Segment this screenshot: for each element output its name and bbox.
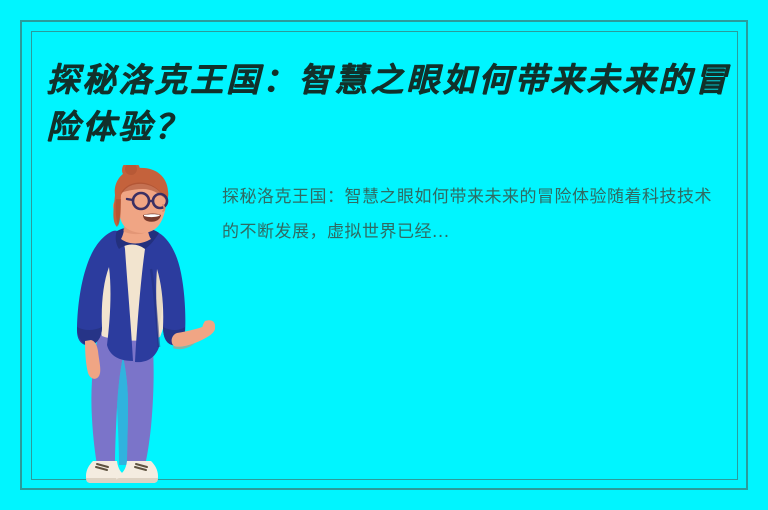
article-card: 探秘洛克王国：智慧之眼如何带来未来的冒险体验？ <box>0 0 768 510</box>
page-title: 探秘洛克王国：智慧之眼如何带来未来的冒险体验？ <box>46 56 746 150</box>
head-shape <box>113 165 168 233</box>
article-excerpt: 探秘洛克王国：智慧之眼如何带来未来的冒险体验随着科技技术的不断发展，虚拟世界已经… <box>222 180 727 250</box>
standing-person-illustration <box>55 165 215 485</box>
